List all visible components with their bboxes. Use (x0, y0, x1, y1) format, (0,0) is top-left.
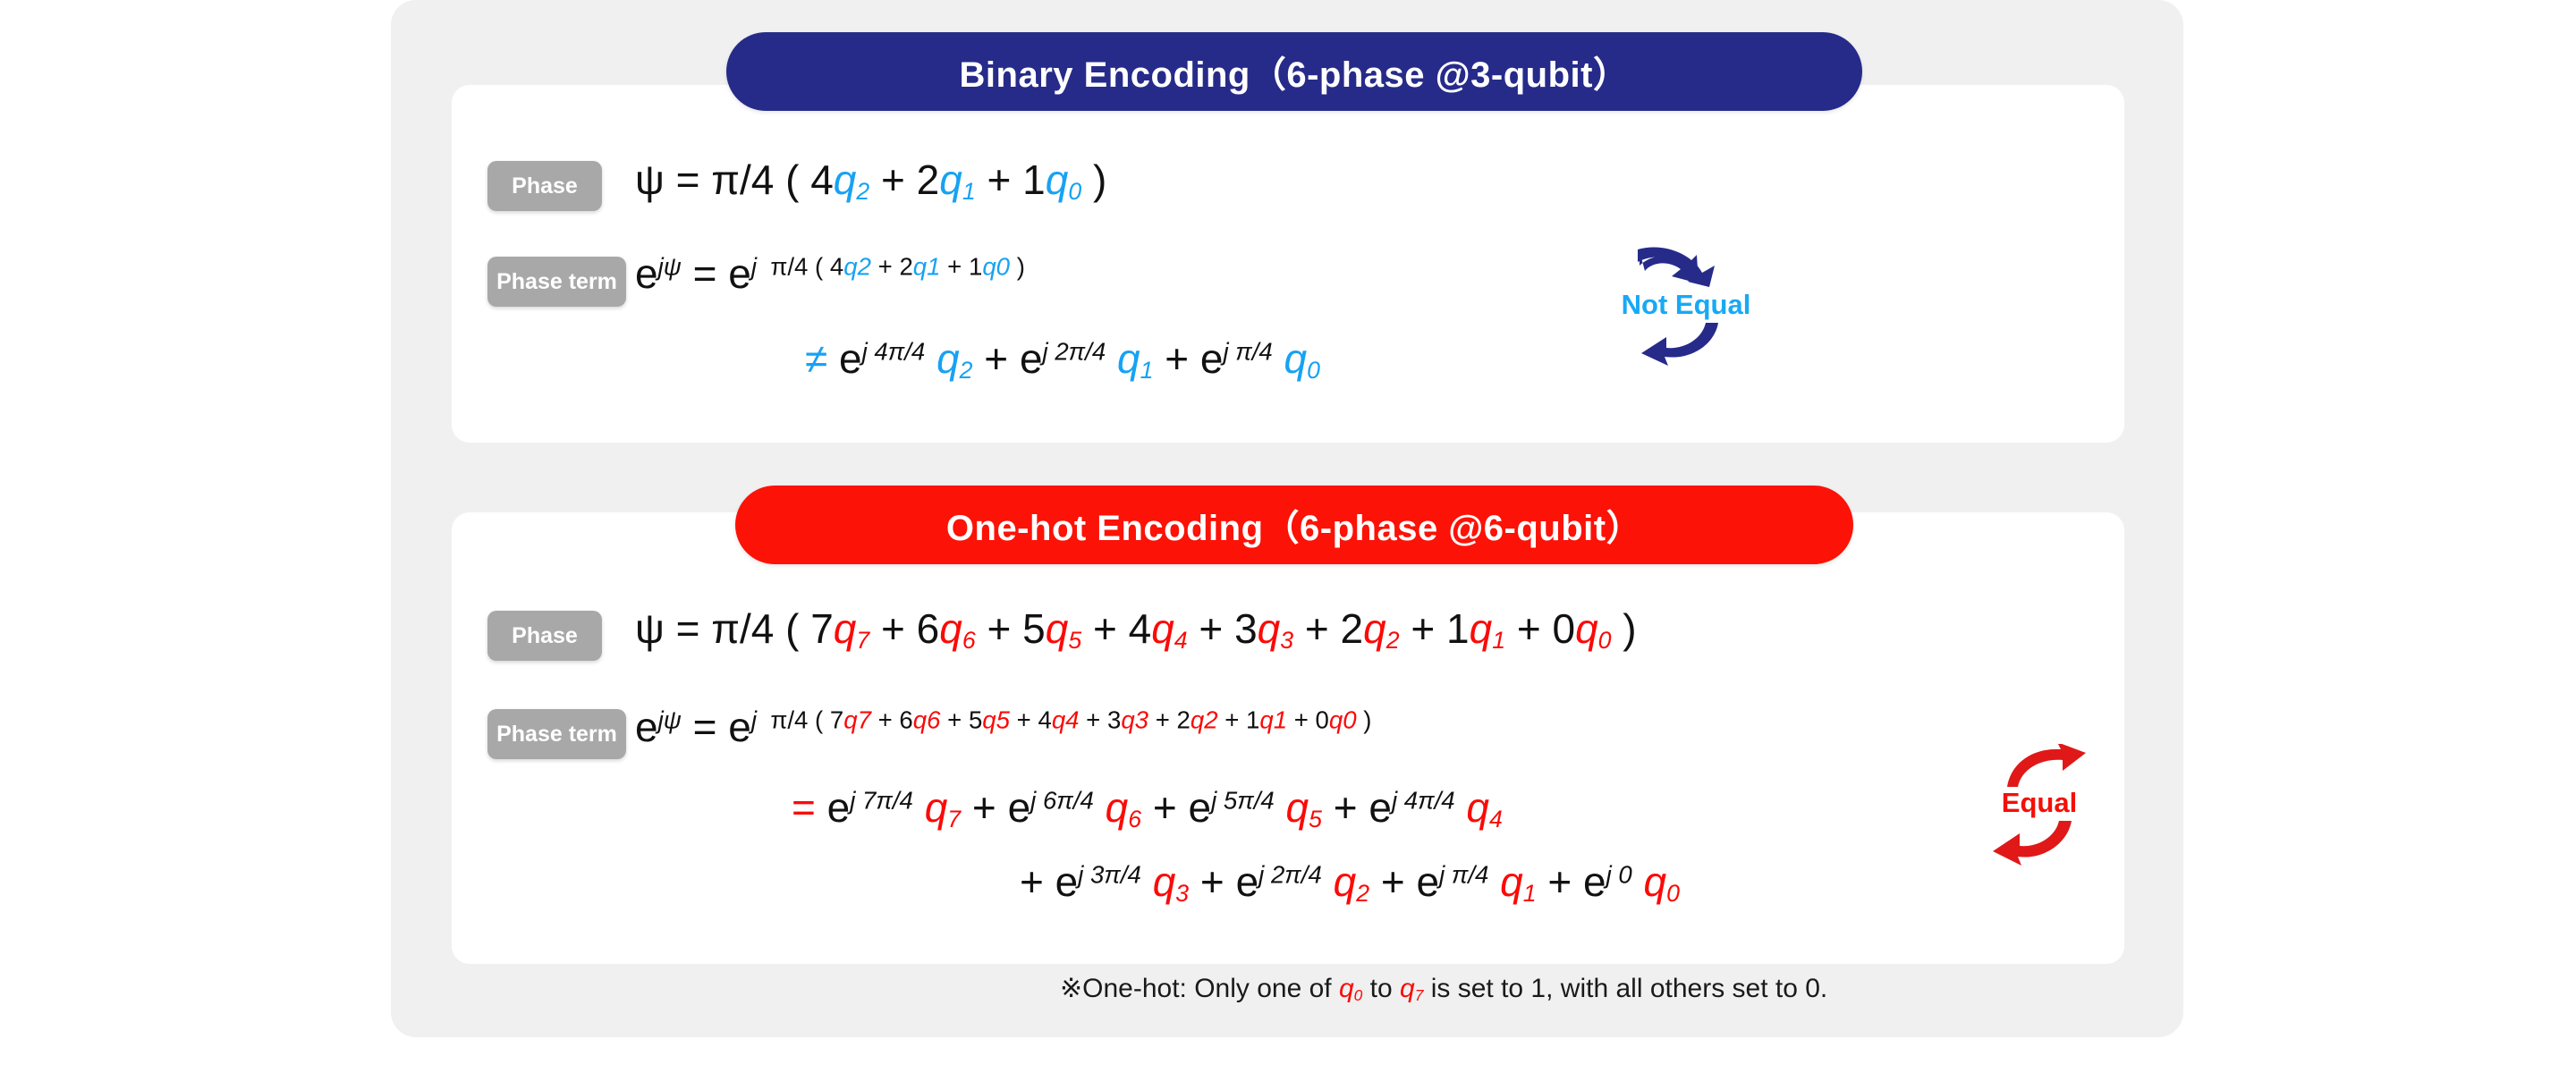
onehot-footnote: ※One-hot: Only one of q0 to q7 is set to… (1060, 973, 1827, 1005)
onehot-term1-t2-q: q5 (982, 706, 1010, 734)
onehot-term1-t3-q: q4 (1052, 706, 1080, 734)
onehot-exp-t0-base: e (827, 784, 851, 831)
binary-phase-badge: Phase (487, 161, 602, 211)
binary-term1-base-e: e (728, 250, 751, 297)
onehot-term1-t0-coef: 7 (830, 706, 843, 734)
binary-term1-e: e (635, 250, 658, 297)
onehot-phase-t3-coef: 4 (1129, 605, 1152, 652)
onehot-phase-term-line-2: = ej 7π/4 q7 + ej 6π/4 q6 + ej 5π/4 q5 +… (792, 787, 1503, 832)
onehot-exp-t1-sub: 6 (1128, 806, 1141, 832)
onehot-phase-t0-sub: 7 (856, 627, 869, 654)
onehot-term1-t5-coef: 2 (1176, 706, 1190, 734)
onehot-phase-t7-coef: 0 (1552, 605, 1575, 652)
onehot-exp-t3-q: q (1466, 784, 1489, 831)
onehot-phase-t4-sub: 3 (1280, 627, 1293, 654)
onehot-term1-t1-coef: 6 (899, 706, 912, 734)
onehot-exp2-t3-base: e (1583, 858, 1606, 905)
binary-phase-sep-1: + (987, 156, 1011, 203)
onehot-phase-t5-sub: 2 (1386, 627, 1400, 654)
binary-exp-t0-exp: j 4π/4 (862, 338, 926, 366)
binary-term1-exp-t0-q: q2 (843, 253, 871, 281)
onehot-exp-t2-base: e (1188, 784, 1211, 831)
onehot-line3-lead: + (1020, 858, 1044, 905)
onehot-exp-t0-sub: 7 (947, 806, 961, 832)
binary-exp-sep-0: + (984, 335, 1008, 382)
onehot-phase-sep-2: + (1093, 605, 1117, 652)
onehot-phase-sep-3: + (1199, 605, 1223, 652)
onehot-exp2-sep-1: + (1381, 858, 1405, 905)
onehot-exp-t2-exp: j 5π/4 (1211, 787, 1275, 815)
binary-term1-exp-t0-coef: 4 (830, 253, 843, 281)
onehot-term1-t4-q: q3 (1121, 706, 1148, 734)
binary-encoding-title: Binary Encoding（6-phase @3-qubit） (726, 32, 1862, 111)
binary-phase-term-2-sub: 0 (1068, 178, 1081, 205)
onehot-phase-rhs: ) (1612, 605, 1637, 652)
onehot-exp2-t2-sub: 1 (1523, 880, 1537, 907)
onehot-phase-t2-q: q (1046, 605, 1069, 652)
onehot-exp-t1-q: q (1106, 784, 1129, 831)
onehot-exp-t0-exp: j 7π/4 (850, 787, 913, 815)
binary-phase-term-1-sub: 1 (962, 178, 976, 205)
binary-phase-term-1-coef: 2 (917, 156, 940, 203)
onehot-exp-t3-sub: 4 (1489, 806, 1503, 832)
onehot-phase-badge: Phase (487, 611, 602, 661)
onehot-exp-t1-base: e (1008, 784, 1031, 831)
binary-exp-t1-exp: j 2π/4 (1043, 338, 1106, 366)
footnote-q-low-sub: 0 (1354, 986, 1363, 1004)
binary-term1-exp: jψ (658, 253, 682, 281)
onehot-term1-t5-q: q2 (1191, 706, 1218, 734)
onehot-exp2-t3-exp: j 0 (1606, 861, 1632, 889)
onehot-exp2-t0-sub: 3 (1175, 880, 1189, 907)
binary-phase-term-line-1: ejψ = ej π/4 ( 4q2 + 2q1 + 1q0 ) (635, 253, 1025, 294)
onehot-term1-base-e: e (728, 704, 751, 750)
binary-exp-t2-base: e (1200, 335, 1224, 382)
onehot-exp2-t2-q: q (1500, 858, 1523, 905)
curved-arrow-down-icon (1632, 321, 1740, 366)
onehot-exp-t2-sub: 5 (1309, 806, 1322, 832)
equal-annotation: Equal (1954, 744, 2124, 866)
onehot-exp2-t2-base: e (1416, 858, 1439, 905)
footnote-q-low: q (1339, 974, 1354, 1003)
binary-phase-rhs: ) (1081, 156, 1106, 203)
onehot-term1-t2-coef: 5 (969, 706, 982, 734)
onehot-phase-formula: ψ = π/4 ( 7q7 + 6q6 + 5q5 + 4q4 + 3q3 + … (635, 608, 1637, 653)
onehot-phase-t0-q: q (834, 605, 857, 652)
onehot-phase-t2-coef: 5 (1022, 605, 1046, 652)
onehot-exp2-t3-q: q (1644, 858, 1667, 905)
onehot-term1-t6-coef: 1 (1246, 706, 1259, 734)
binary-term1-exp-open: π/4 ( (770, 253, 830, 281)
onehot-phase-t3-sub: 4 (1174, 627, 1188, 654)
onehot-exp-t0-q: q (925, 784, 948, 831)
onehot-exp-sep-1: + (1153, 784, 1177, 831)
not-equal-label: Not Equal (1601, 289, 1771, 321)
onehot-phase-term-badge: Phase term (487, 709, 626, 759)
onehot-exp2-t1-exp: j 2π/4 (1258, 861, 1322, 889)
onehot-exp2-t1-base: e (1236, 858, 1259, 905)
binary-phase-sep-0: + (881, 156, 905, 203)
binary-phase-term-2-coef: 1 (1022, 156, 1046, 203)
onehot-phase-lhs: ψ = π/4 ( (635, 605, 810, 652)
onehot-term1-t4-coef: 3 (1107, 706, 1121, 734)
equal-label: Equal (1954, 787, 2124, 819)
binary-phase-term-0-q: q (834, 156, 857, 203)
onehot-exp-t2-q: q (1286, 784, 1309, 831)
onehot-exp-t3-exp: j 4π/4 (1392, 787, 1455, 815)
onehot-phase-t1-coef: 6 (917, 605, 940, 652)
onehot-phase-sep-0: + (881, 605, 905, 652)
onehot-phase-term-line-1: ejψ = ej π/4 ( 7q7 + 6q6 + 5q5 + 4q4 + 3… (635, 706, 1371, 748)
binary-exp-sep-1: + (1165, 335, 1189, 382)
binary-term1-exp-sep-1: + (947, 253, 962, 281)
onehot-term1-t0-q: q7 (843, 706, 871, 734)
onehot-term1-t1-q: q6 (913, 706, 941, 734)
onehot-phase-sep-1: + (987, 605, 1011, 652)
onehot-term1-exp-open: π/4 ( (770, 706, 830, 734)
binary-phase-formula: ψ = π/4 ( 4q2 + 2q1 + 1q0 ) (635, 159, 1106, 204)
onehot-encoding-title: One-hot Encoding（6-phase @6-qubit） (735, 486, 1853, 564)
onehot-term1-t6-q: q1 (1259, 706, 1287, 734)
footnote-q-high: q (1400, 974, 1415, 1003)
onehot-phase-t6-coef: 1 (1446, 605, 1470, 652)
binary-exp-t0-base: e (839, 335, 862, 382)
binary-exp-t0-sub: 2 (960, 357, 973, 384)
onehot-phase-t0-coef: 7 (810, 605, 834, 652)
footnote-suffix: is set to 1, with all others set to 0. (1423, 974, 1827, 1003)
onehot-phase-t2-sub: 5 (1068, 627, 1081, 654)
onehot-exp2-sep-2: + (1547, 858, 1572, 905)
onehot-exp2-t3-sub: 0 (1666, 880, 1680, 907)
onehot-equal-sign: = (792, 784, 816, 831)
binary-term1-exp-close: ) (1010, 253, 1025, 281)
onehot-exp-sep-2: + (1334, 784, 1358, 831)
onehot-phase-t1-q: q (939, 605, 962, 652)
onehot-exp2-t1-q: q (1334, 858, 1357, 905)
footnote-q-high-sub: 7 (1415, 986, 1424, 1004)
footnote-middle: to (1362, 974, 1400, 1003)
binary-term1-exp-t2-q: q0 (982, 253, 1010, 281)
binary-exp-t0-q: q (936, 335, 960, 382)
binary-phase-term-1-q: q (939, 156, 962, 203)
binary-phase-term-0-sub: 2 (856, 178, 869, 205)
binary-exp-t2-q: q (1284, 335, 1308, 382)
binary-phase-term-2-q: q (1046, 156, 1069, 203)
onehot-exp-sep-0: + (972, 784, 996, 831)
binary-term1-exp-sep-0: + (878, 253, 893, 281)
binary-exp-t2-sub: 0 (1307, 357, 1320, 384)
onehot-exp2-t0-q: q (1153, 858, 1176, 905)
onehot-term1-exp: jψ (658, 706, 682, 734)
onehot-exp2-t0-base: e (1055, 858, 1079, 905)
onehot-phase-sep-4: + (1305, 605, 1329, 652)
onehot-phase-t1-sub: 6 (962, 627, 976, 654)
onehot-exp-t3-base: e (1368, 784, 1392, 831)
onehot-exp2-t0-exp: j 3π/4 (1078, 861, 1141, 889)
binary-exp-t2-exp: j π/4 (1223, 338, 1272, 366)
not-equal-annotation: Not Equal (1601, 246, 1771, 366)
binary-exp-t1-sub: 1 (1140, 357, 1154, 384)
onehot-term1-e: e (635, 704, 658, 750)
onehot-term1-t3-coef: 4 (1038, 706, 1051, 734)
binary-exp-t1-q: q (1117, 335, 1140, 382)
curved-arrow-down-red-icon (1986, 819, 2093, 866)
onehot-phase-t4-q: q (1258, 605, 1281, 652)
onehot-phase-t5-q: q (1363, 605, 1386, 652)
onehot-exp2-t2-exp: j π/4 (1439, 861, 1488, 889)
onehot-term1-equals: = (693, 704, 717, 750)
onehot-term1-exp-close: ) (1357, 706, 1372, 734)
onehot-term1-t7-q: q0 (1329, 706, 1357, 734)
onehot-phase-t6-q: q (1470, 605, 1493, 652)
binary-not-equal-sign: ≠ (805, 335, 827, 382)
onehot-exp2-t1-sub: 2 (1356, 880, 1369, 907)
onehot-exp-t1-exp: j 6π/4 (1030, 787, 1094, 815)
onehot-phase-term-line-3: + ej 3π/4 q3 + ej 2π/4 q2 + ej π/4 q1 + … (1020, 861, 1680, 906)
onehot-exp2-sep-0: + (1200, 858, 1224, 905)
footnote-prefix: ※One-hot: Only one of (1060, 974, 1339, 1003)
onehot-phase-t7-sub: 0 (1598, 627, 1612, 654)
slide-canvas: Binary Encoding（6-phase @3-qubit） Phase … (0, 0, 2576, 1073)
onehot-phase-sep-5: + (1411, 605, 1435, 652)
onehot-phase-t7-q: q (1575, 605, 1598, 652)
onehot-phase-t6-sub: 1 (1492, 627, 1505, 654)
onehot-term1-t7-coef: 0 (1316, 706, 1329, 734)
onehot-phase-sep-6: + (1517, 605, 1541, 652)
binary-term1-exp-t1-q: q1 (913, 253, 941, 281)
onehot-phase-t3-q: q (1151, 605, 1174, 652)
binary-term1-equals: = (693, 250, 717, 297)
onehot-phase-t5-coef: 2 (1341, 605, 1364, 652)
onehot-phase-t4-coef: 3 (1234, 605, 1258, 652)
binary-phase-term-0-coef: 4 (810, 156, 834, 203)
binary-phase-lhs: ψ = π/4 ( (635, 156, 810, 203)
binary-exp-t1-base: e (1020, 335, 1043, 382)
binary-term1-exp-t2-coef: 1 (969, 253, 982, 281)
binary-phase-term-line-2: ≠ ej 4π/4 q2 + ej 2π/4 q1 + ej π/4 q0 (805, 338, 1320, 383)
curved-arrow-up-icon (1632, 246, 1740, 289)
binary-term1-exp-t1-coef: 2 (899, 253, 912, 281)
curved-arrow-up-red-icon (1986, 744, 2093, 787)
binary-phase-term-badge: Phase term (487, 257, 626, 307)
